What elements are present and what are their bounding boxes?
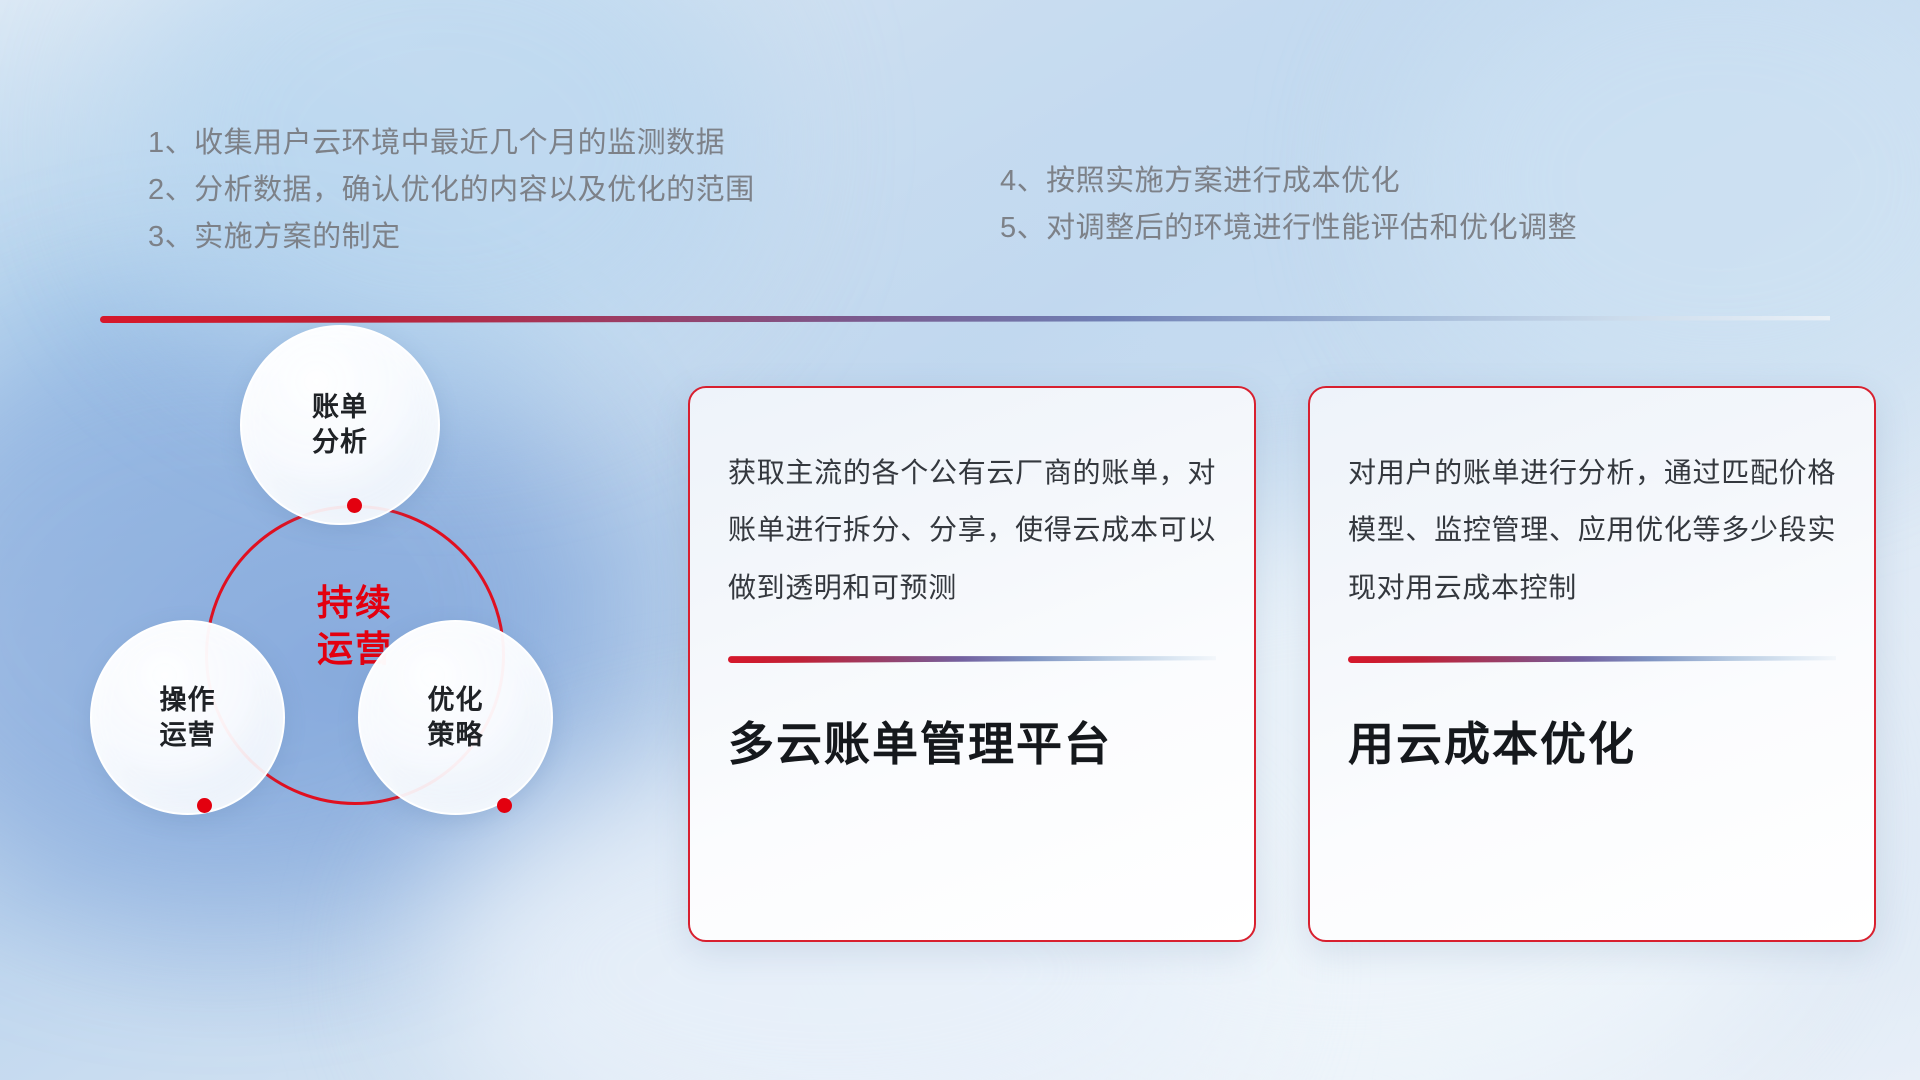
diagram-bubble-bill-analysis[interactable]: 账单 分析 — [240, 325, 440, 525]
bubble-optimization-policy-line-2: 策略 — [428, 718, 484, 753]
step-item-3: 3、实施方案的制定 — [148, 214, 755, 261]
step-item-4: 4、按照实施方案进行成本优化 — [1000, 158, 1577, 205]
bubble-operation-running-line-2: 运营 — [160, 718, 216, 753]
card-2-body: 对用户的账单进行分析，通过匹配价格模型、监控管理、应用优化等多少段实现对用云成本… — [1348, 444, 1836, 616]
card-multi-cloud-bill-platform[interactable]: 获取主流的各个公有云厂商的账单，对账单进行拆分、分享，使得云成本可以做到透明和可… — [688, 386, 1256, 942]
bubble-bill-analysis-line-1: 账单 — [312, 390, 368, 425]
card-1-title: 多云账单管理平台 — [728, 717, 1216, 772]
card-1-body: 获取主流的各个公有云厂商的账单，对账单进行拆分、分享，使得云成本可以做到透明和可… — [728, 444, 1216, 616]
bubble-operation-running-line-1: 操作 — [160, 683, 216, 718]
card-2-title: 用云成本优化 — [1348, 717, 1836, 772]
card-1-divider — [728, 656, 1216, 663]
card-2-divider — [1348, 656, 1836, 663]
section-divider-rule — [100, 316, 1830, 323]
diagram-node-dot-top — [347, 498, 362, 513]
steps-left-column: 1、收集用户云环境中最近几个月的监测数据 2、分析数据，确认优化的内容以及优化的… — [148, 120, 755, 261]
diagram-node-dot-right — [497, 798, 512, 813]
bubble-optimization-policy-line-1: 优化 — [428, 683, 484, 718]
step-item-1: 1、收集用户云环境中最近几个月的监测数据 — [148, 120, 755, 167]
diagram-bubble-optimization-policy[interactable]: 优化 策略 — [358, 620, 553, 815]
slide-canvas: 1、收集用户云环境中最近几个月的监测数据 2、分析数据，确认优化的内容以及优化的… — [0, 0, 1920, 1080]
continuous-operation-diagram: 持续 运营 账单 分析 操作 运营 优化 策略 — [90, 340, 630, 940]
diagram-bubble-operation-running[interactable]: 操作 运营 — [90, 620, 285, 815]
bubble-bill-analysis-line-2: 分析 — [312, 425, 368, 460]
step-item-2: 2、分析数据，确认优化的内容以及优化的范围 — [148, 167, 755, 214]
diagram-node-dot-left — [197, 798, 212, 813]
card-cloud-cost-optimization[interactable]: 对用户的账单进行分析，通过匹配价格模型、监控管理、应用优化等多少段实现对用云成本… — [1308, 386, 1876, 942]
steps-right-column: 4、按照实施方案进行成本优化 5、对调整后的环境进行性能评估和优化调整 — [1000, 158, 1577, 252]
step-item-5: 5、对调整后的环境进行性能评估和优化调整 — [1000, 205, 1577, 252]
